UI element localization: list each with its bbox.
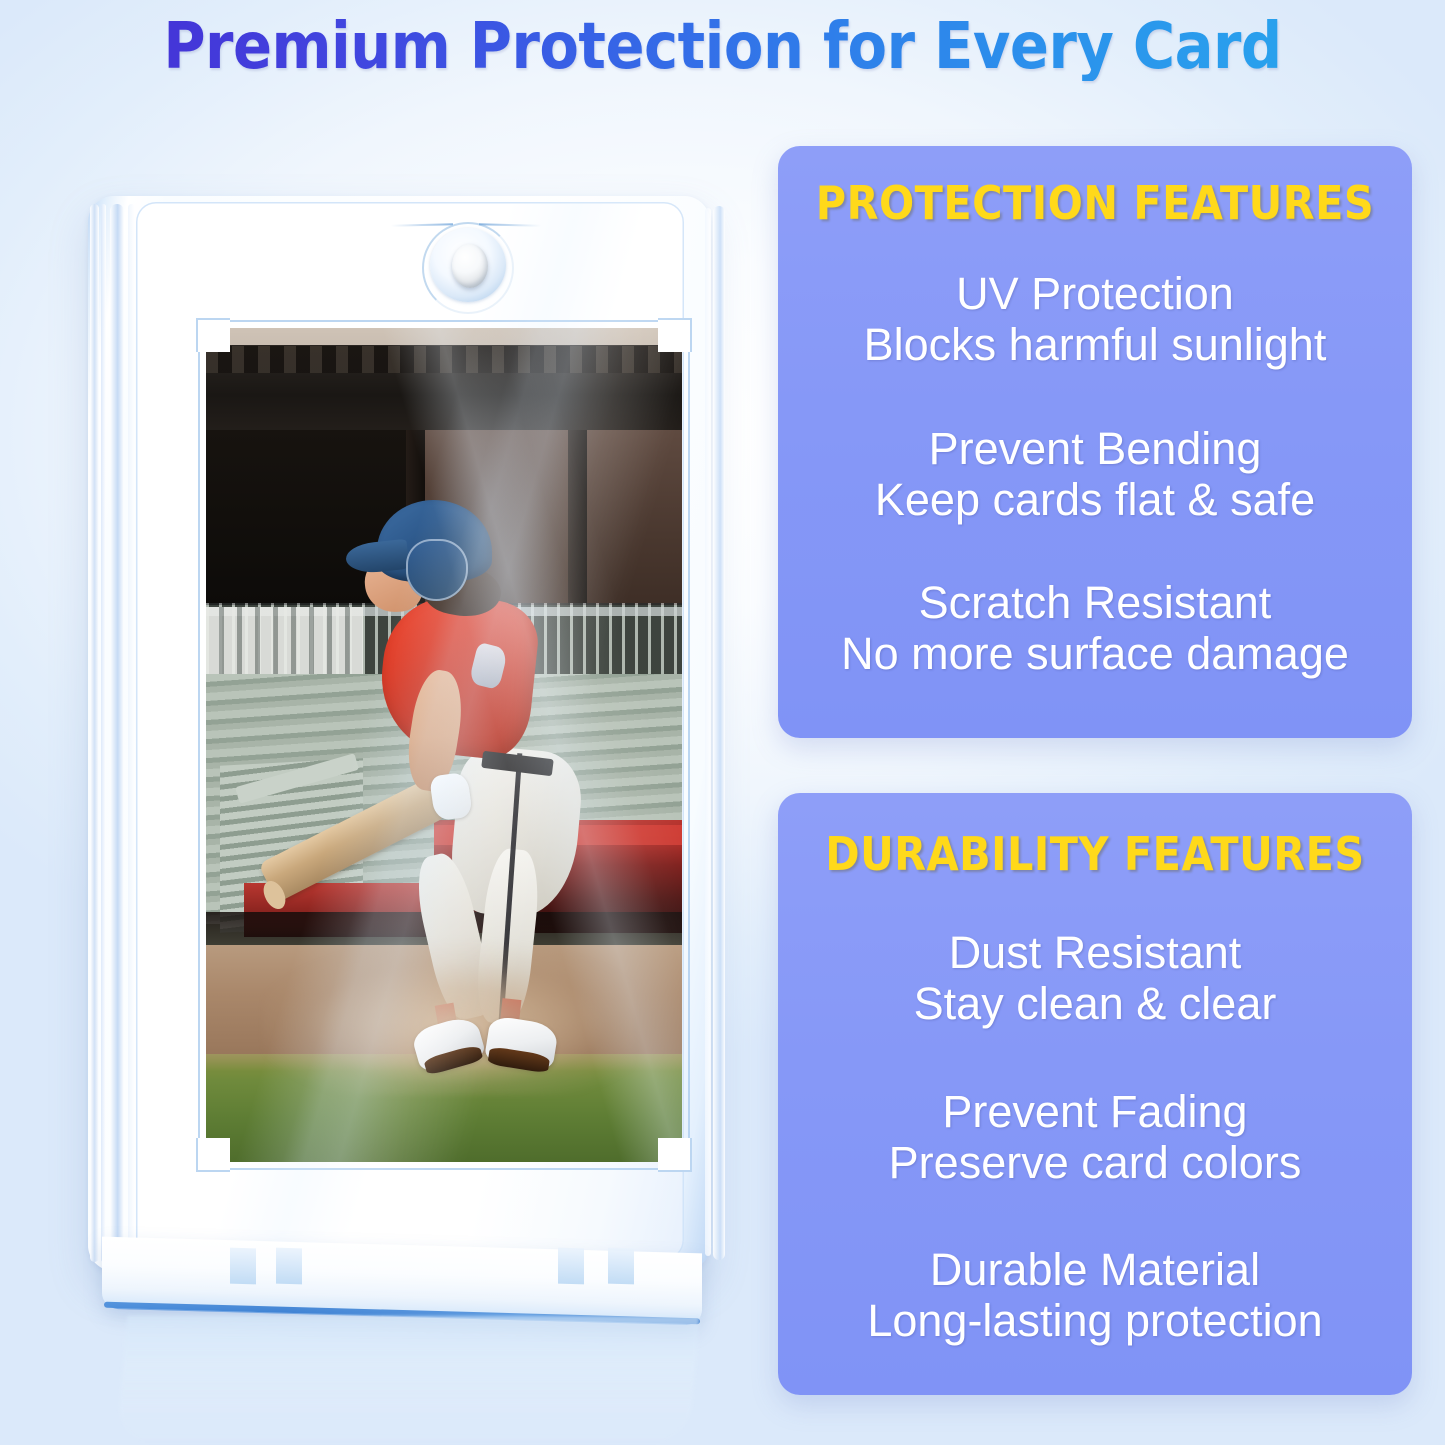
feature-name: Prevent Fading [889, 1086, 1302, 1137]
feature-description: Keep cards flat & safe [875, 474, 1315, 525]
magnet-closure-icon [452, 244, 488, 288]
aperture-corner-notch [196, 318, 230, 352]
acrylic-edge-stripe [90, 204, 99, 1262]
feature-prevent-bending: Prevent Bending Keep cards flat & safe [875, 423, 1315, 526]
acrylic-edge-stripe [713, 206, 725, 1260]
aperture-corner-notch [658, 318, 692, 352]
feature-name: Dust Resistant [914, 927, 1277, 978]
holder-base-tab [230, 1248, 256, 1285]
feature-description: No more surface damage [841, 628, 1349, 679]
feature-uv-protection: UV Protection Blocks harmful sunlight [864, 268, 1327, 371]
holder-base-tab [558, 1248, 584, 1285]
feature-name: Prevent Bending [875, 423, 1315, 474]
protection-feature-list: UV Protection Blocks harmful sunlight Pr… [778, 268, 1412, 680]
acrylic-edge-stripe [101, 204, 106, 1262]
feature-description: Long-lasting protection [867, 1295, 1322, 1346]
feature-scratch-resistant: Scratch Resistant No more surface damage [841, 577, 1349, 680]
feature-durable-material: Durable Material Long-lasting protection [867, 1244, 1322, 1347]
page-title: Premium Protection for Every Card [0, 14, 1445, 81]
feature-dust-resistant: Dust Resistant Stay clean & clear [914, 927, 1277, 1030]
acrylic-edge-stripe [705, 208, 711, 1256]
acrylic-edge-stripe [110, 204, 124, 1262]
feature-name: UV Protection [864, 268, 1327, 319]
holder-base-tab [608, 1248, 634, 1285]
feature-description: Stay clean & clear [914, 978, 1277, 1029]
panel-protection-title: PROTECTION FEATURES [816, 176, 1374, 230]
feature-name: Scratch Resistant [841, 577, 1349, 628]
aperture-outline [198, 320, 690, 1170]
durability-feature-list: Dust Resistant Stay clean & clear Preven… [778, 927, 1412, 1347]
card-aperture [206, 328, 682, 1162]
feature-name: Durable Material [867, 1244, 1322, 1295]
aperture-corner-notch [196, 1138, 230, 1172]
infographic-canvas: Premium Protection for Every Card [0, 0, 1445, 1445]
feature-prevent-fading: Prevent Fading Preserve card colors [889, 1086, 1302, 1189]
holder-base-tab [276, 1248, 302, 1285]
feature-description: Preserve card colors [889, 1137, 1302, 1188]
aperture-corner-notch [658, 1138, 692, 1172]
holder-reflection [116, 1316, 699, 1444]
panel-protection-features: PROTECTION FEATURES UV Protection Blocks… [778, 146, 1412, 738]
product-image-card-holder [88, 196, 728, 1316]
feature-description: Blocks harmful sunlight [864, 319, 1327, 370]
holder-front-face [136, 202, 684, 1260]
acrylic-edge-stripe [128, 204, 135, 1262]
panel-durability-title: DURABILITY FEATURES [825, 827, 1364, 881]
panel-durability-features: DURABILITY FEATURES Dust Resistant Stay … [778, 793, 1412, 1395]
